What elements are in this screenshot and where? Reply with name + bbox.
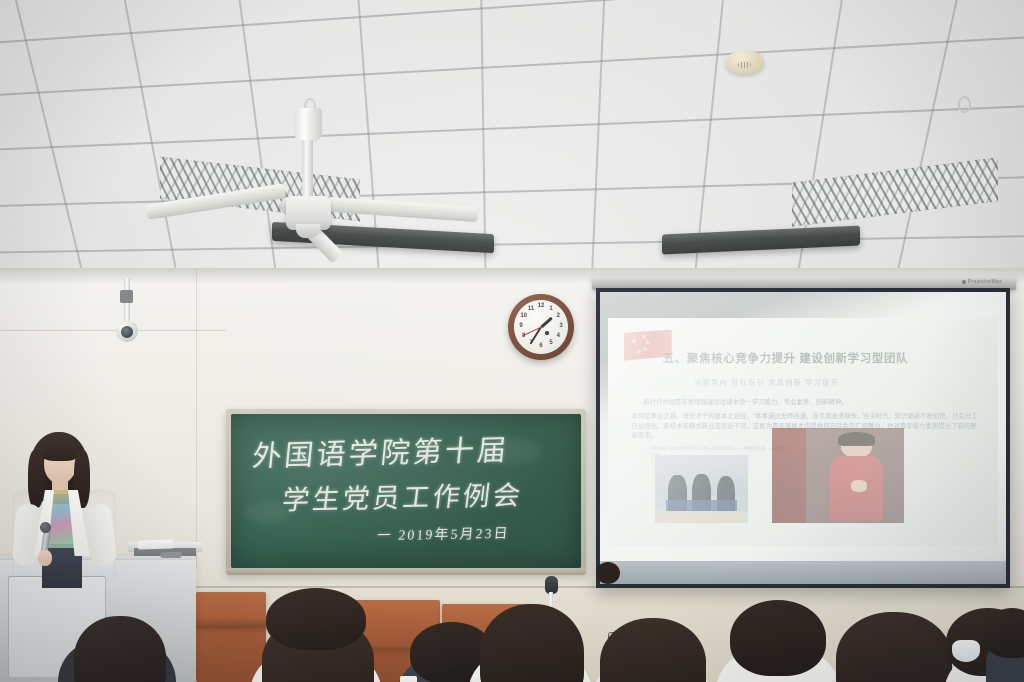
wall-clock: 121234567891011 — [508, 294, 574, 360]
ceiling-hook-icon — [958, 96, 971, 113]
presenter-fringe — [41, 442, 79, 461]
projection-surface: ★ ★ ★ ★ ★ 五、聚焦核心竞争力提升 建设创新学习型团队 问题导向 目标指… — [600, 292, 1006, 584]
clock-numeral-1: 1 — [547, 306, 555, 312]
microphone-head-icon — [40, 522, 51, 533]
lecture-hall-photo: 121234567891011 外国语学院第十届 学生党员工作例会 一 2019… — [0, 0, 1024, 682]
list-item — [74, 616, 166, 682]
clock-hour-hand — [540, 317, 552, 328]
slide-paragraph-1: 新时代中国青年要增强建设过硬本领一学习能力、专业素养、创新精神。 — [643, 398, 970, 408]
face-mask-icon — [952, 640, 980, 662]
wall-camera-icon — [112, 278, 142, 344]
audience — [0, 560, 1024, 682]
fan-light-kit — [296, 224, 320, 238]
ceiling-shading — [0, 0, 1024, 290]
clock-numeral-5: 5 — [547, 340, 555, 346]
list-item — [600, 618, 706, 682]
list-item — [266, 588, 366, 650]
fan-canopy — [294, 108, 322, 142]
blackboard-line-1: 外国语学院第十届 — [251, 427, 512, 475]
slide-subtitle: 问题导向 目标指引 求真创新 学习提升 — [694, 377, 975, 388]
glasses-icon — [608, 632, 628, 645]
clock-center-pin — [545, 331, 549, 335]
clock-numeral-12: 12 — [537, 303, 545, 309]
clock-numeral-9: 9 — [517, 323, 525, 329]
clock-numeral-11: 11 — [527, 306, 535, 312]
clock-numeral-6: 6 — [537, 343, 545, 349]
list-item — [836, 612, 952, 682]
clock-face: 121234567891011 — [514, 300, 568, 354]
ceiling — [0, 0, 1024, 290]
wall-seam-2 — [196, 268, 197, 568]
list-item — [480, 604, 584, 682]
lectern-papers — [138, 539, 174, 549]
list-item — [596, 562, 620, 584]
clock-numeral-2: 2 — [554, 313, 562, 319]
list-item — [730, 600, 826, 676]
screen-brand-label: ProjectorMax — [962, 279, 1002, 285]
smoke-detector-icon — [726, 50, 764, 74]
blackboard-frame: 外国语学院第十届 学生党员工作例会 一 2019年5月23日 — [226, 409, 586, 573]
slide-title: 五、聚焦核心竞争力提升 建设创新学习型团队 — [663, 350, 990, 366]
slide-photo-right — [772, 428, 905, 524]
blackboard-line-2: 学生党员工作例会 — [280, 473, 525, 517]
brand-dot-icon — [962, 280, 966, 284]
ceiling-fan — [258, 98, 358, 228]
list-item — [984, 608, 1024, 658]
presentation-slide: ★ ★ ★ ★ ★ 五、聚焦核心竞争力提升 建设创新学习型团队 问题导向 目标指… — [608, 318, 998, 546]
clock-numeral-3: 3 — [557, 323, 565, 329]
fan-downrod — [302, 140, 313, 200]
paper-cup — [400, 676, 417, 682]
blackboard: 外国语学院第十届 学生党员工作例会 一 2019年5月23日 — [231, 414, 581, 568]
projection-screen: ★ ★ ★ ★ ★ 五、聚焦核心竞争力提升 建设创新学习型团队 问题导向 目标指… — [596, 288, 1010, 588]
blackboard-line-3: 一 2019年5月23日 — [376, 523, 510, 545]
slide-photo-left — [655, 455, 749, 523]
lectern-object — [160, 552, 182, 558]
clock-numeral-10: 10 — [520, 313, 528, 319]
clock-numeral-4: 4 — [554, 333, 562, 339]
